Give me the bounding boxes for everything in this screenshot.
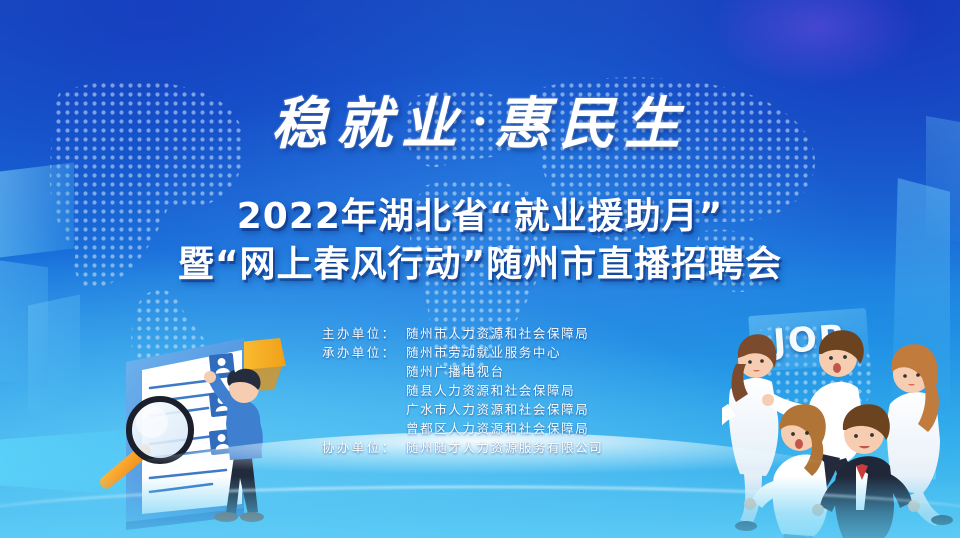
poster-canvas: JOB	[0, 0, 960, 538]
headline-line-2: 暨“网上春风行动”随州市直播招聘会	[0, 244, 960, 286]
decor-panel-left-lower	[28, 294, 80, 415]
organizer-row-label	[322, 400, 406, 419]
calligraphy-separator-dot: ·	[466, 94, 494, 148]
organizer-list: 主办单位：随州市人力资源和社会保障局承办单位：随州市劳动就业服务中心随州广播电视…	[322, 324, 722, 457]
organizer-row-label: 协办单位：	[322, 438, 406, 457]
organizer-row: 随县人力资源和社会保障局	[322, 381, 722, 400]
calligraphy-title-part-2: 惠民生	[494, 91, 689, 157]
organizer-row-label: 承办单位：	[322, 343, 406, 362]
organizer-row-value: 随州随才人力资源服务有限公司	[406, 438, 722, 457]
organizer-row: 承办单位：随州市劳动就业服务中心	[322, 343, 722, 362]
headline-line-1: 2022年湖北省“就业援助月”	[0, 196, 960, 238]
calligraphy-title-part-1: 稳就业	[271, 91, 466, 157]
organizer-row: 协办单位：随州随才人力资源服务有限公司	[322, 438, 722, 457]
organizer-row-value: 随州市劳动就业服务中心	[406, 343, 722, 362]
organizer-row-value: 曾都区人力资源和社会保障局	[406, 419, 722, 438]
calligraphy-title: 稳就业·惠民生	[0, 96, 960, 152]
organizer-row-value: 随州广播电视台	[406, 362, 722, 381]
organizer-row-value: 随县人力资源和社会保障局	[406, 381, 722, 400]
organizer-row-label	[322, 381, 406, 400]
organizer-row: 随州广播电视台	[322, 362, 722, 381]
organizer-row: 曾都区人力资源和社会保障局	[322, 419, 722, 438]
organizer-row-value: 随州市人力资源和社会保障局	[406, 324, 722, 343]
organizer-row-value: 广水市人力资源和社会保障局	[406, 400, 722, 419]
organizer-row: 主办单位：随州市人力资源和社会保障局	[322, 324, 722, 343]
organizer-row-label: 主办单位：	[322, 324, 406, 343]
organizer-row-label	[322, 362, 406, 381]
organizer-row-label	[322, 419, 406, 438]
bottom-fade	[0, 476, 960, 538]
organizer-row: 广水市人力资源和社会保障局	[322, 400, 722, 419]
